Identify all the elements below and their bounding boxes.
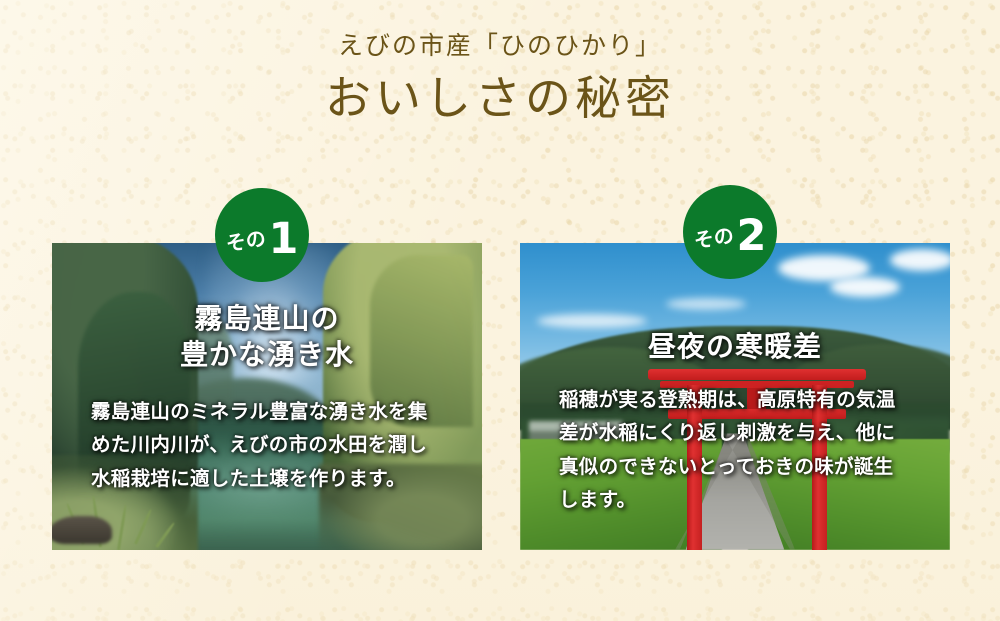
badge-2-prefix: その [691,219,735,254]
card-2-title-line-1: 昼夜の寒暖差 [648,329,822,365]
card-1-text: 霧島連山の 豊かな湧き水 霧島連山のミネラル豊富な湧き水を集めた川内川が、えびの… [52,243,482,550]
card-2-body: 稲穂が実る登熟期は、高原特有の気温差が水稲にくり返し刺激を与え、他に真似のできな… [559,383,911,517]
card-1-body: 霧島連山のミネラル豊富な湧き水を集めた川内川が、えびの市の水田を潤し水稲栽培に適… [91,395,443,496]
badge-1-prefix: その [223,222,267,257]
feature-card-1[interactable]: 霧島連山の 豊かな湧き水 霧島連山のミネラル豊富な湧き水を集めた川内川が、えびの… [52,243,482,550]
card-2-text: 昼夜の寒暖差 稲穂が実る登熟期は、高原特有の気温差が水稲にくり返し刺激を与え、他… [520,243,950,550]
badge-2-inner: その 2 [694,218,767,255]
card-1-title: 霧島連山の 豊かな湧き水 [180,301,354,373]
badge-1-number: 1 [269,221,299,258]
badge-2-number: 2 [737,218,767,255]
card-1-title-line-2: 豊かな湧き水 [180,337,354,373]
page-title: おいしさの秘密 [0,69,1000,129]
card-1-title-line-1: 霧島連山の [180,301,354,337]
header-kicker: えびの市産「ひのひかり」 [0,30,1000,61]
card-2-title: 昼夜の寒暖差 [648,329,822,365]
badge-1-inner: その 1 [226,221,299,258]
step-badge-1: その 1 [215,188,309,282]
page-header: えびの市産「ひのひかり」 おいしさの秘密 [0,30,1000,129]
feature-card-2[interactable]: 昼夜の寒暖差 稲穂が実る登熟期は、高原特有の気温差が水稲にくり返し刺激を与え、他… [520,243,950,550]
step-badge-2: その 2 [683,185,777,279]
